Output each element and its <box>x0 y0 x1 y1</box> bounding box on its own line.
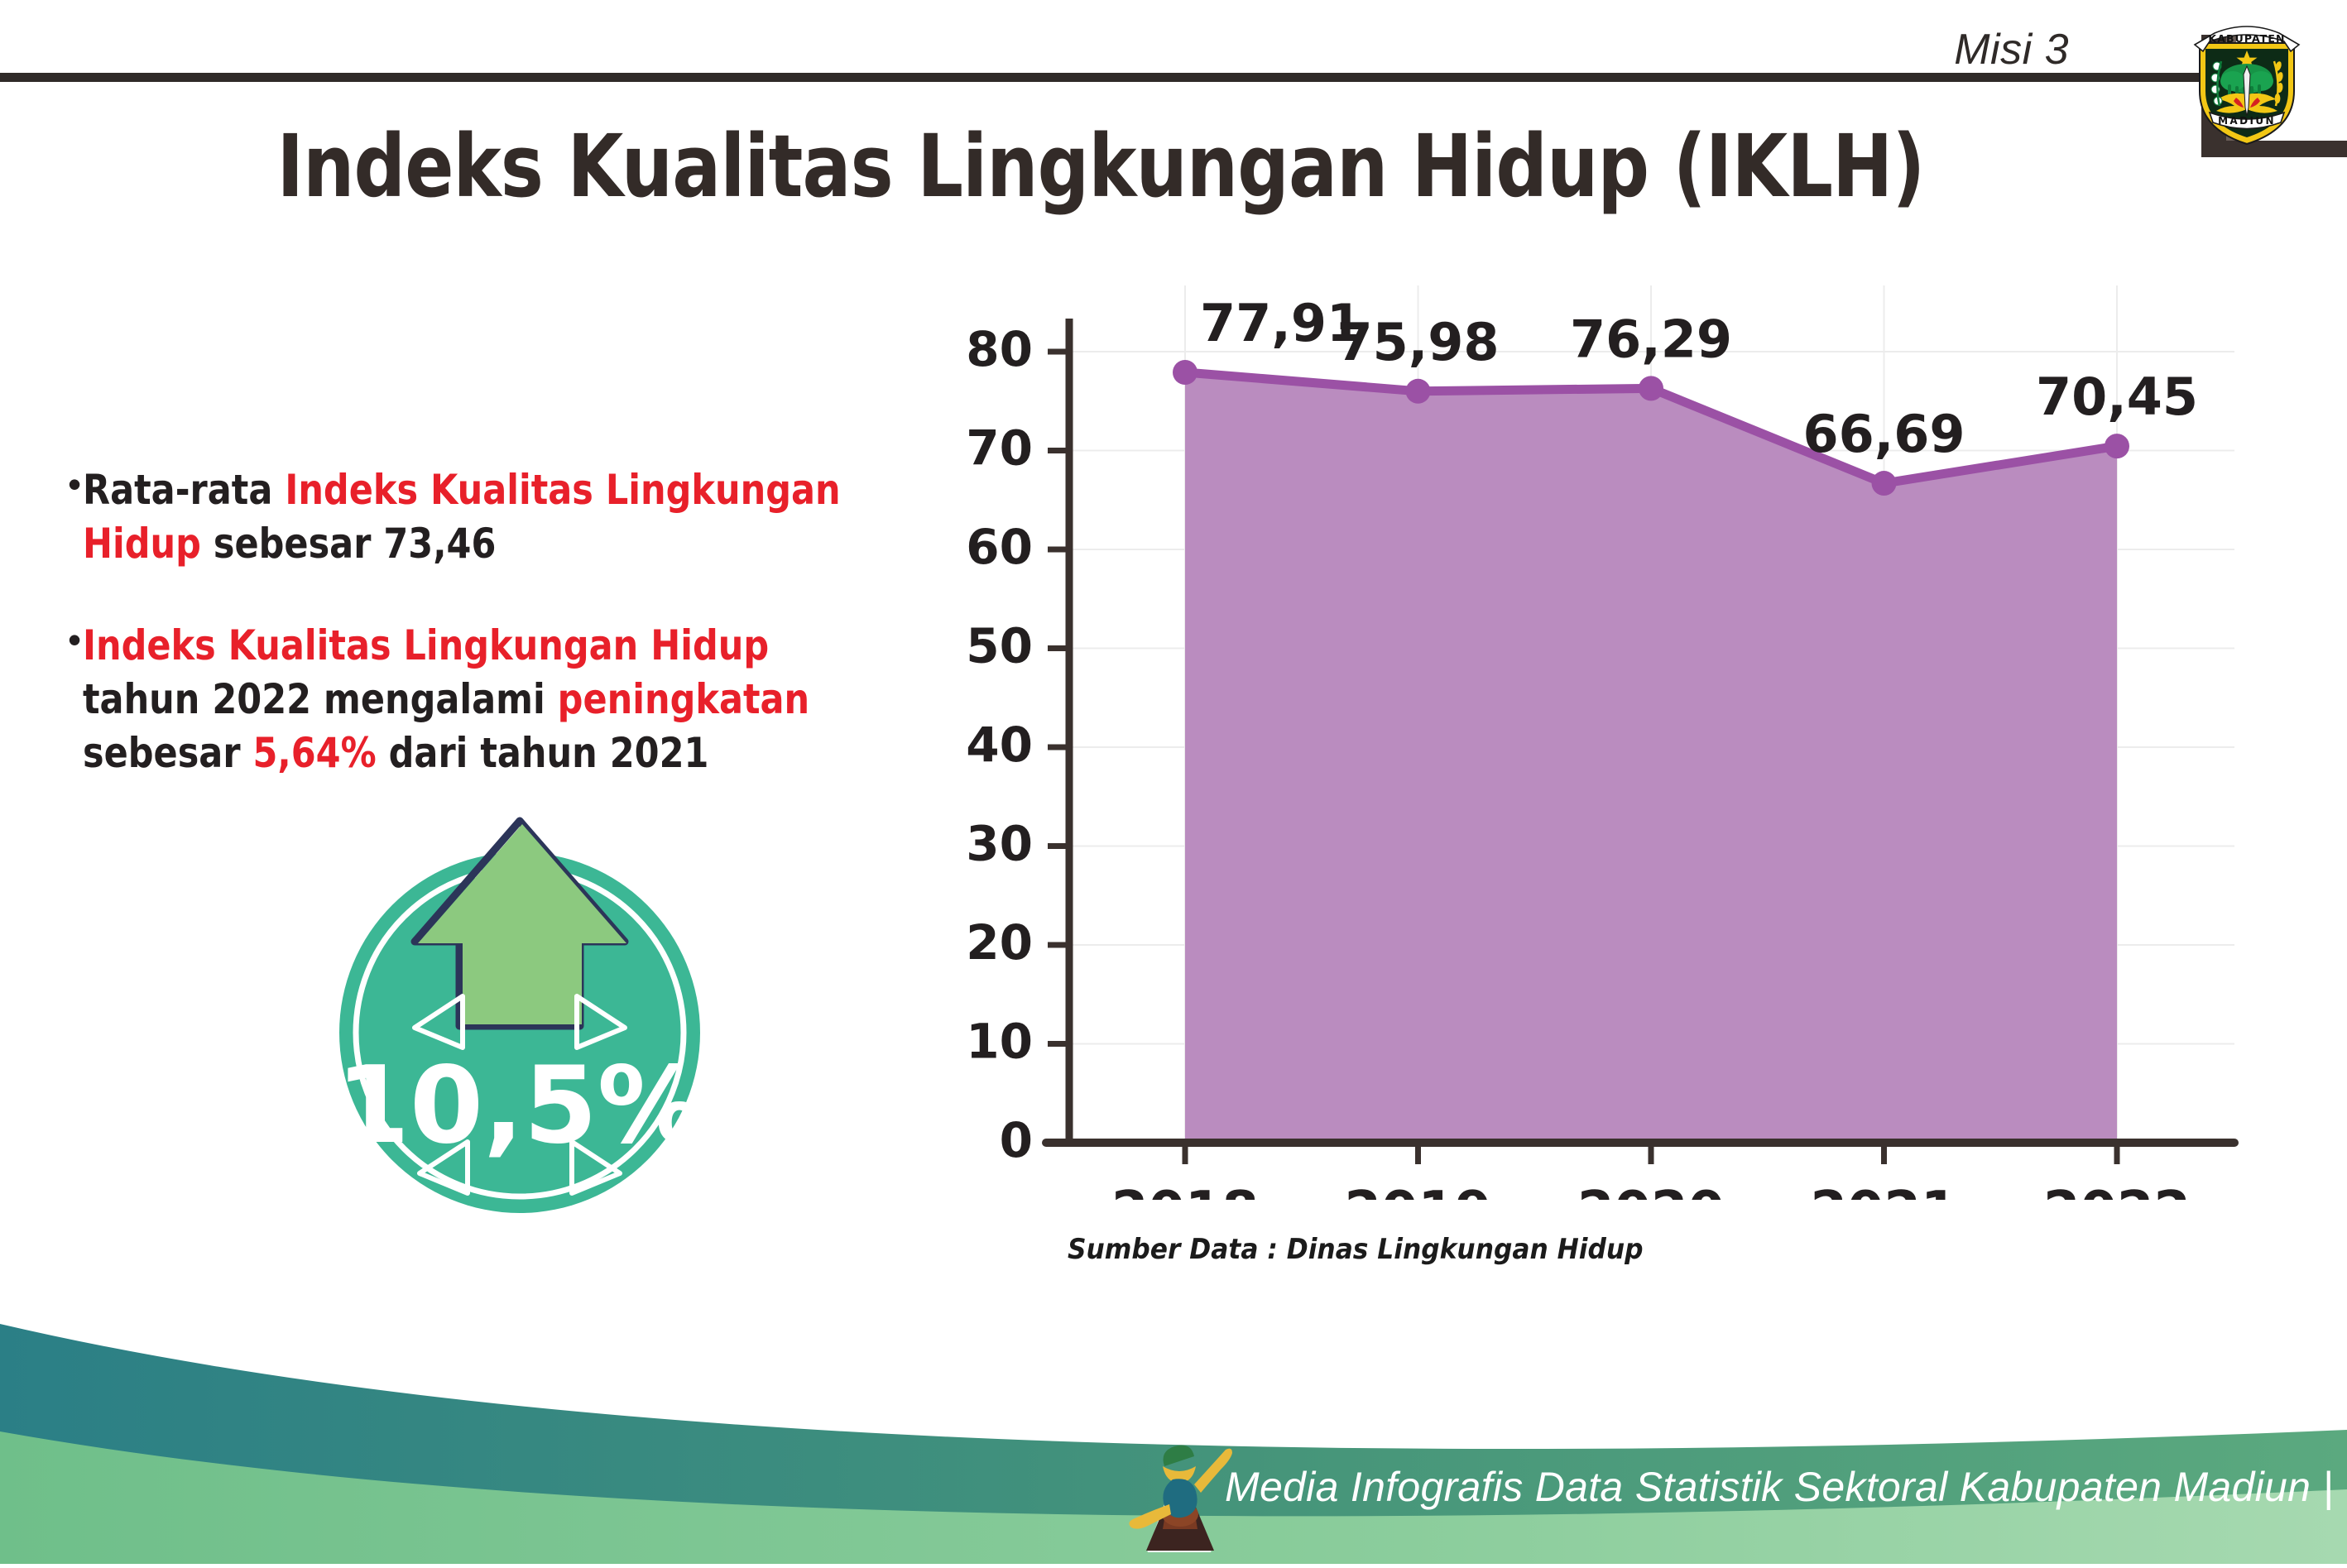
y-tick-label: 80 <box>966 321 1033 377</box>
iklh-area-chart: 010203040506070802018201920202021202277,… <box>943 273 2284 1200</box>
x-tick-label: 2021 <box>1810 1181 1957 1200</box>
bullet-text-0: Rata-rata Indeks Kualitas Lingkungan Hid… <box>83 463 846 571</box>
bullet-1-segment-2: peningkatan <box>558 675 809 723</box>
list-item: • Indeks Kualitas Lingkungan Hidup tahun… <box>68 619 970 780</box>
data-label: 75,98 <box>1337 312 1499 372</box>
bullet-marker: • <box>68 619 81 662</box>
svg-text:KABUPATEN: KABUPATEN <box>2208 32 2285 45</box>
data-label: 76,29 <box>1570 309 1732 369</box>
y-tick-label: 60 <box>966 519 1033 575</box>
y-tick-label: 40 <box>966 717 1033 773</box>
y-tick-label: 0 <box>1000 1112 1033 1168</box>
x-tick-label: 2018 <box>1111 1181 1259 1200</box>
data-label: 66,69 <box>1802 404 1965 464</box>
y-tick-label: 10 <box>966 1014 1033 1070</box>
y-tick-label: 30 <box>966 816 1033 872</box>
x-tick-label: 2019 <box>1344 1181 1491 1200</box>
bullet-marker: • <box>68 463 81 506</box>
list-item: • Rata-rata Indeks Kualitas Lingkungan H… <box>68 463 970 571</box>
source-note: Sumber Data : Dinas Lingkungan Hidup <box>1068 1233 1644 1266</box>
data-point-marker <box>1406 379 1431 404</box>
data-point-marker <box>2105 434 2129 458</box>
bullet-0-segment-2: sebesar 73,46 <box>201 520 496 568</box>
page-title: Indeks Kualitas Lingkungan Hidup (IKLH) <box>176 116 2025 217</box>
bullet-text-1: Indeks Kualitas Lingkungan Hidup tahun 2… <box>83 619 846 780</box>
kabupaten-madiun-logo-icon: KABUPATEN MADIUN <box>2185 15 2309 147</box>
madiun-dancer-figure-icon <box>1121 1428 1237 1552</box>
y-tick-label: 20 <box>966 914 1033 971</box>
misi-label: Misi 3 <box>1954 25 2069 74</box>
bullet-1-segment-1: tahun 2022 mengalami <box>83 675 558 723</box>
bullet-1-segment-4: 5,64% <box>253 729 377 777</box>
bullet-1-segment-3: sebesar <box>83 729 252 777</box>
y-tick-label: 70 <box>966 420 1033 477</box>
bullet-1-segment-5: dari tahun 2021 <box>377 729 709 777</box>
footer-caption: Media Infografis Data Statistik Sektoral… <box>1225 1463 2334 1511</box>
bullet-list: • Rata-rata Indeks Kualitas Lingkungan H… <box>68 463 970 828</box>
y-tick-label: 50 <box>966 618 1033 674</box>
bullet-1-segment-0: Indeks Kualitas Lingkungan Hidup <box>83 621 769 669</box>
svg-text:MADIUN: MADIUN <box>2218 115 2276 127</box>
data-point-marker <box>1639 376 1663 400</box>
bullet-0-segment-0: Rata-rata <box>83 466 285 514</box>
header-rule <box>0 73 2228 82</box>
data-label: 70,45 <box>2036 367 2198 427</box>
badge-value: 10,5% <box>336 1044 703 1168</box>
data-point-marker <box>1872 471 1897 496</box>
increase-badge: 10,5% <box>317 811 722 1216</box>
x-tick-label: 2022 <box>2043 1181 2191 1200</box>
area-fill <box>1185 372 2117 1143</box>
x-tick-label: 2020 <box>1577 1181 1725 1200</box>
data-point-marker <box>1173 360 1197 385</box>
